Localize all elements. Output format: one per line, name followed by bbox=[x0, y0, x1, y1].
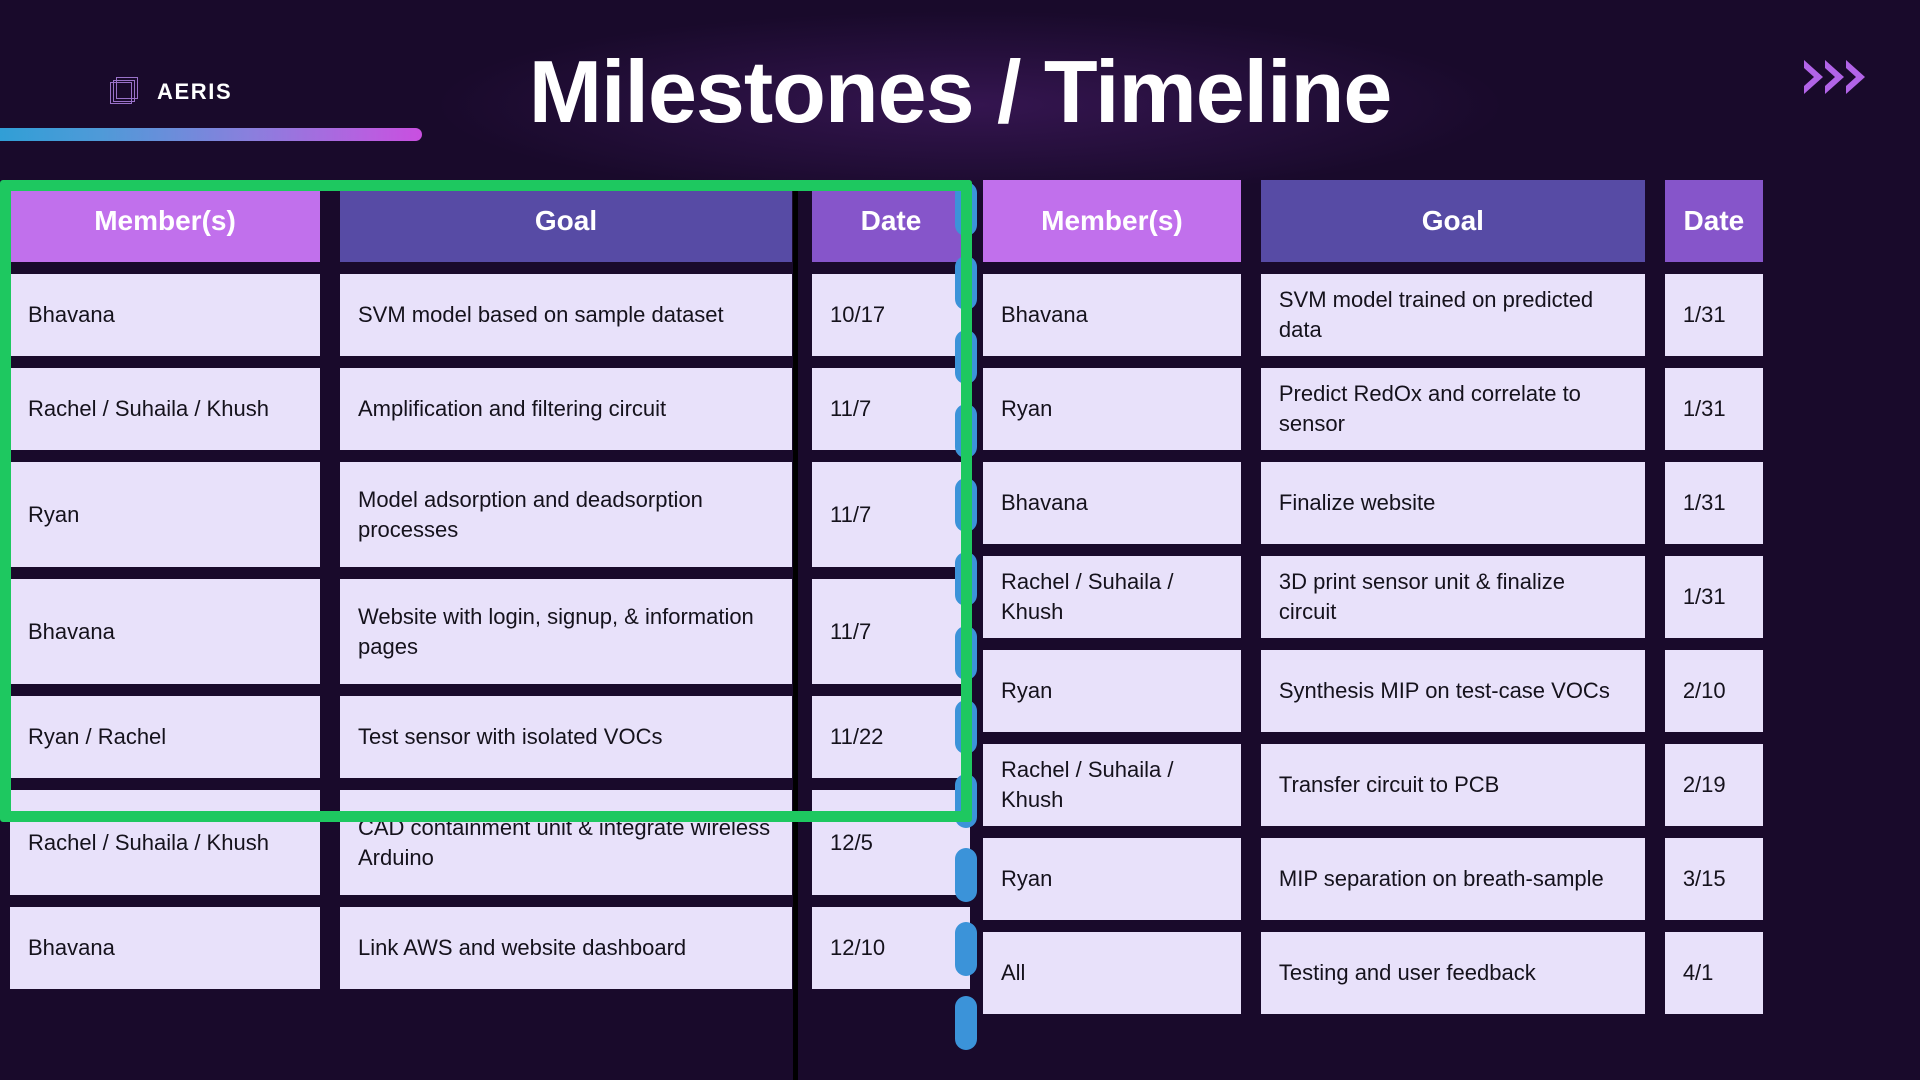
cell-goal[interactable]: Predict RedOx and correlate to sensor bbox=[1261, 368, 1645, 450]
cell-member[interactable]: Rachel / Suhaila / Khush bbox=[983, 744, 1241, 826]
cell-member[interactable]: Ryan bbox=[983, 368, 1241, 450]
table-row[interactable]: Bhavana SVM model trained on predicted d… bbox=[983, 274, 1763, 356]
cell-member[interactable]: Bhavana bbox=[10, 579, 320, 684]
column-header-date[interactable]: Date bbox=[812, 180, 970, 262]
column-resize-handle-strip[interactable] bbox=[955, 182, 977, 1074]
cell-goal[interactable]: Link AWS and website dashboard bbox=[340, 907, 792, 989]
table-header-row: Member(s) Goal Date bbox=[983, 180, 1763, 262]
cell-date[interactable]: 11/7 bbox=[812, 462, 970, 567]
cell-date[interactable]: 11/22 bbox=[812, 696, 970, 778]
table-row[interactable]: Ryan Synthesis MIP on test-case VOCs 2/1… bbox=[983, 650, 1763, 732]
cell-member[interactable]: Bhavana bbox=[983, 462, 1241, 544]
column-resize-handle[interactable] bbox=[955, 256, 977, 310]
column-resize-handle[interactable] bbox=[955, 848, 977, 902]
cell-member[interactable]: Ryan / Rachel bbox=[10, 696, 320, 778]
table-row[interactable]: Rachel / Suhaila / Khush 3D print sensor… bbox=[983, 556, 1763, 638]
cell-goal[interactable]: MIP separation on breath-sample bbox=[1261, 838, 1645, 920]
table-row[interactable]: Bhavana Website with login, signup, & in… bbox=[10, 579, 970, 684]
column-resize-handle[interactable] bbox=[955, 478, 977, 532]
cell-date[interactable]: 3/15 bbox=[1665, 838, 1763, 920]
cell-goal[interactable]: Test sensor with isolated VOCs bbox=[340, 696, 792, 778]
column-resize-handle[interactable] bbox=[955, 182, 977, 236]
chevron-right-icon bbox=[1804, 60, 1823, 94]
column-header-goal[interactable]: Goal bbox=[1261, 180, 1645, 262]
chevron-right-icon bbox=[1846, 60, 1865, 94]
cell-goal[interactable]: Model adsorption and deadsorption proces… bbox=[340, 462, 792, 567]
vertical-divider bbox=[793, 180, 798, 1080]
cell-date[interactable]: 12/10 bbox=[812, 907, 970, 989]
cell-goal[interactable]: Transfer circuit to PCB bbox=[1261, 744, 1645, 826]
column-resize-handle[interactable] bbox=[955, 922, 977, 976]
cell-member[interactable]: Ryan bbox=[983, 838, 1241, 920]
table-row[interactable]: Ryan / Rachel Test sensor with isolated … bbox=[10, 696, 970, 778]
cell-date[interactable]: 2/10 bbox=[1665, 650, 1763, 732]
cell-member[interactable]: Bhavana bbox=[983, 274, 1241, 356]
column-resize-handle[interactable] bbox=[955, 330, 977, 384]
cell-member[interactable]: Bhavana bbox=[10, 274, 320, 356]
column-resize-handle[interactable] bbox=[955, 552, 977, 606]
chevron-right-icon bbox=[1825, 60, 1844, 94]
table-row[interactable]: Ryan Model adsorption and deadsorption p… bbox=[10, 462, 970, 567]
cell-goal[interactable]: Finalize website bbox=[1261, 462, 1645, 544]
cell-member[interactable]: Rachel / Suhaila / Khush bbox=[10, 790, 320, 895]
cell-goal[interactable]: 3D print sensor unit & finalize circuit bbox=[1261, 556, 1645, 638]
cell-member[interactable]: Ryan bbox=[983, 650, 1241, 732]
table-row[interactable]: Ryan Predict RedOx and correlate to sens… bbox=[983, 368, 1763, 450]
table-header-row: Member(s) Goal Date bbox=[10, 180, 970, 262]
tables-area: Member(s) Goal Date Bhavana SVM model ba… bbox=[0, 180, 1920, 1080]
cell-date[interactable]: 2/19 bbox=[1665, 744, 1763, 826]
table-fall-semester: Member(s) Goal Date Bhavana SVM model ba… bbox=[10, 180, 970, 1001]
cell-date[interactable]: 1/31 bbox=[1665, 556, 1763, 638]
column-header-date[interactable]: Date bbox=[1665, 180, 1763, 262]
cell-date[interactable]: 1/31 bbox=[1665, 462, 1763, 544]
cell-goal[interactable]: Amplification and filtering circuit bbox=[340, 368, 792, 450]
cell-date[interactable]: 4/1 bbox=[1665, 932, 1763, 1014]
table-row[interactable]: Rachel / Suhaila / Khush CAD containment… bbox=[10, 790, 970, 895]
slide-canvas: AERIS Milestones / Timeline Member(s) Go… bbox=[0, 0, 1920, 1080]
cell-goal[interactable]: SVM model trained on predicted data bbox=[1261, 274, 1645, 356]
cell-goal[interactable]: SVM model based on sample dataset bbox=[340, 274, 792, 356]
cell-member[interactable]: Bhavana bbox=[10, 907, 320, 989]
column-header-member[interactable]: Member(s) bbox=[983, 180, 1241, 262]
cell-goal[interactable]: CAD containment unit & integrate wireles… bbox=[340, 790, 792, 895]
page-title: Milestones / Timeline bbox=[0, 48, 1920, 136]
cell-member[interactable]: Rachel / Suhaila / Khush bbox=[983, 556, 1241, 638]
cell-date[interactable]: 1/31 bbox=[1665, 368, 1763, 450]
column-resize-handle[interactable] bbox=[955, 404, 977, 458]
table-row[interactable]: Rachel / Suhaila / Khush Amplification a… bbox=[10, 368, 970, 450]
column-resize-handle[interactable] bbox=[955, 996, 977, 1050]
table-row[interactable]: Bhavana Link AWS and website dashboard 1… bbox=[10, 907, 970, 989]
table-spring-semester: Member(s) Goal Date Bhavana SVM model tr… bbox=[983, 180, 1763, 1026]
cell-date[interactable]: 11/7 bbox=[812, 579, 970, 684]
cell-date[interactable]: 1/31 bbox=[1665, 274, 1763, 356]
cell-member[interactable]: All bbox=[983, 932, 1241, 1014]
table-row[interactable]: All Testing and user feedback 4/1 bbox=[983, 932, 1763, 1014]
column-resize-handle[interactable] bbox=[955, 626, 977, 680]
cell-member[interactable]: Ryan bbox=[10, 462, 320, 567]
table-row[interactable]: Rachel / Suhaila / Khush Transfer circui… bbox=[983, 744, 1763, 826]
cell-member[interactable]: Rachel / Suhaila / Khush bbox=[10, 368, 320, 450]
table-row[interactable]: Bhavana Finalize website 1/31 bbox=[983, 462, 1763, 544]
table-row[interactable]: Ryan MIP separation on breath-sample 3/1… bbox=[983, 838, 1763, 920]
column-resize-handle[interactable] bbox=[955, 700, 977, 754]
table-row[interactable]: Bhavana SVM model based on sample datase… bbox=[10, 274, 970, 356]
cell-date[interactable]: 11/7 bbox=[812, 368, 970, 450]
cell-goal[interactable]: Website with login, signup, & informatio… bbox=[340, 579, 792, 684]
cell-goal[interactable]: Testing and user feedback bbox=[1261, 932, 1645, 1014]
column-resize-handle[interactable] bbox=[955, 774, 977, 828]
triple-chevron-right-icon bbox=[1804, 60, 1865, 94]
cell-goal[interactable]: Synthesis MIP on test-case VOCs bbox=[1261, 650, 1645, 732]
cell-date[interactable]: 10/17 bbox=[812, 274, 970, 356]
column-header-goal[interactable]: Goal bbox=[340, 180, 792, 262]
column-header-member[interactable]: Member(s) bbox=[10, 180, 320, 262]
cell-date[interactable]: 12/5 bbox=[812, 790, 970, 895]
